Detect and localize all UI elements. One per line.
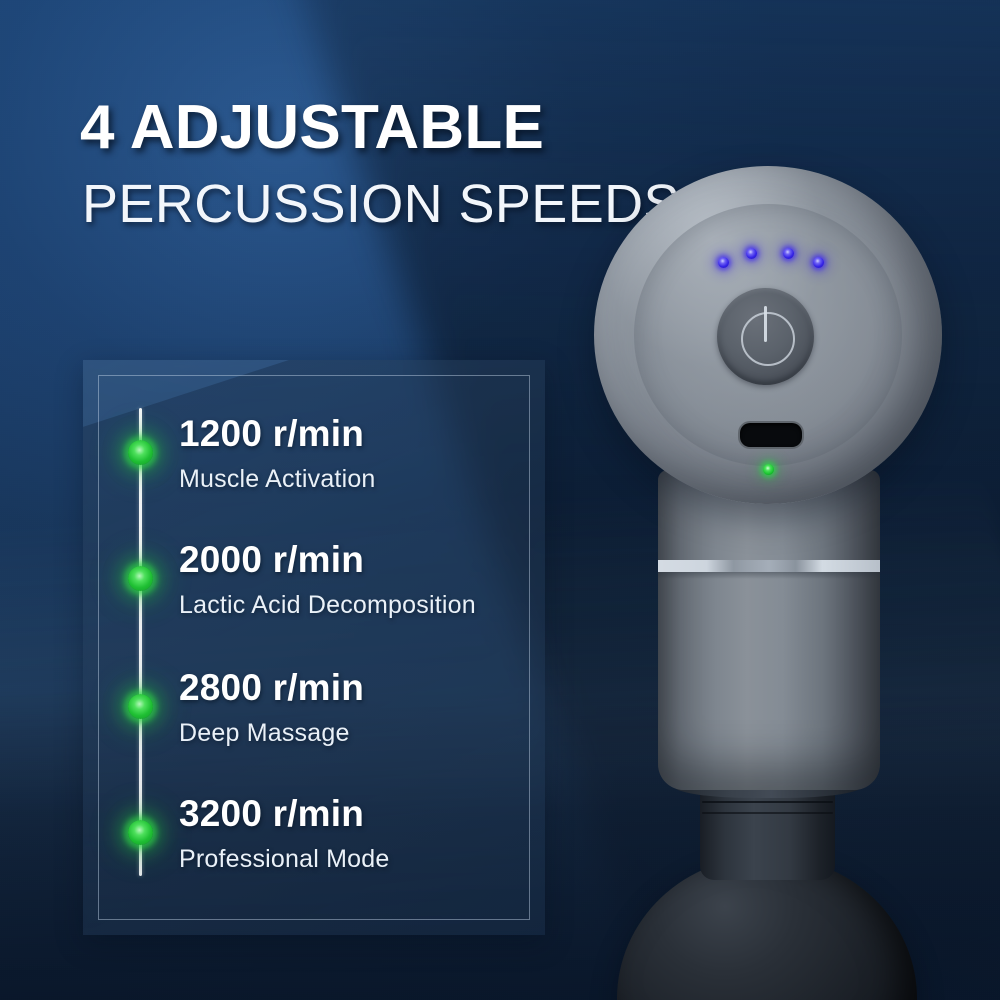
speed-indicator-dot <box>128 820 153 845</box>
product-marketing-image: 4 ADJUSTABLE PERCUSSION SPEEDS 1200 r/mi… <box>0 0 1000 1000</box>
speed-description-label: Muscle Activation <box>179 465 376 494</box>
panel-inner-border <box>98 375 530 920</box>
speed-rpm-label: 2000 r/min <box>179 539 364 581</box>
headline-secondary: PERCUSSION SPEEDS <box>82 176 722 233</box>
timeline-rail <box>139 408 142 876</box>
speed-indicator-dot <box>128 566 153 591</box>
speed-rpm-label: 2800 r/min <box>179 667 364 709</box>
speed-description-label: Professional Mode <box>179 845 389 874</box>
speed-indicator-dot <box>128 694 153 719</box>
headline-primary: 4 ADJUSTABLE <box>80 96 700 159</box>
speed-description-label: Deep Massage <box>179 719 350 748</box>
speed-list-panel: 1200 r/min Muscle Activation 2000 r/min … <box>83 360 545 935</box>
speed-indicator-dot <box>128 440 153 465</box>
speed-rpm-label: 1200 r/min <box>179 413 364 455</box>
speed-rpm-label: 3200 r/min <box>179 793 364 835</box>
speed-description-label: Lactic Acid Decomposition <box>179 591 476 620</box>
